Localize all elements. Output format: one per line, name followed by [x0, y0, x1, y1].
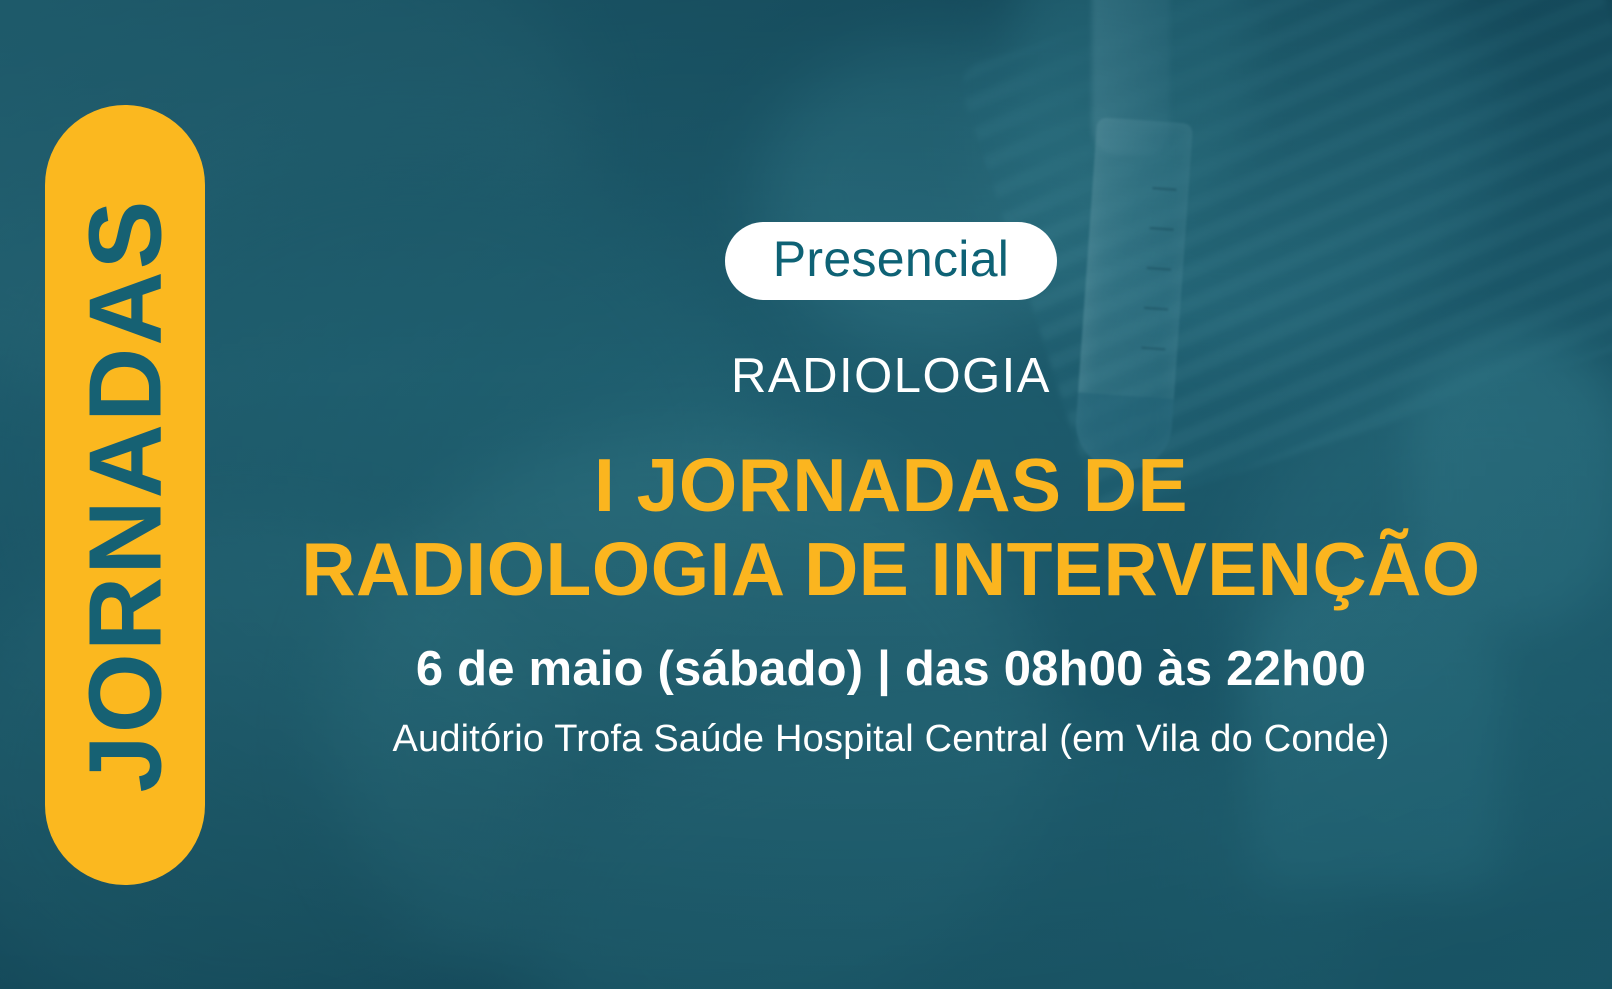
specialty-eyebrow: RADIOLOGIA — [731, 352, 1051, 401]
event-venue: Auditório Trofa Saúde Hospital Central (… — [392, 720, 1389, 758]
event-title-line-2: RADIOLOGIA DE INTERVENÇÃO — [301, 527, 1480, 611]
format-pill-label: Presencial — [773, 231, 1009, 287]
vertical-jornadas-badge: JORNADAS — [45, 105, 205, 885]
event-title-line-1: I JORNADAS DE — [301, 443, 1480, 527]
vertical-jornadas-badge-label: JORNADAS — [74, 198, 177, 792]
event-title: I JORNADAS DE RADIOLOGIA DE INTERVENÇÃO — [301, 443, 1480, 611]
event-banner: JORNADAS Presencial RADIOLOGIA I JORNADA… — [0, 0, 1612, 989]
format-pill-badge: Presencial — [725, 222, 1057, 300]
event-date-time: 6 de maio (sábado) | das 08h00 às 22h00 — [416, 645, 1366, 694]
content-column: Presencial RADIOLOGIA I JORNADAS DE RADI… — [230, 0, 1552, 989]
